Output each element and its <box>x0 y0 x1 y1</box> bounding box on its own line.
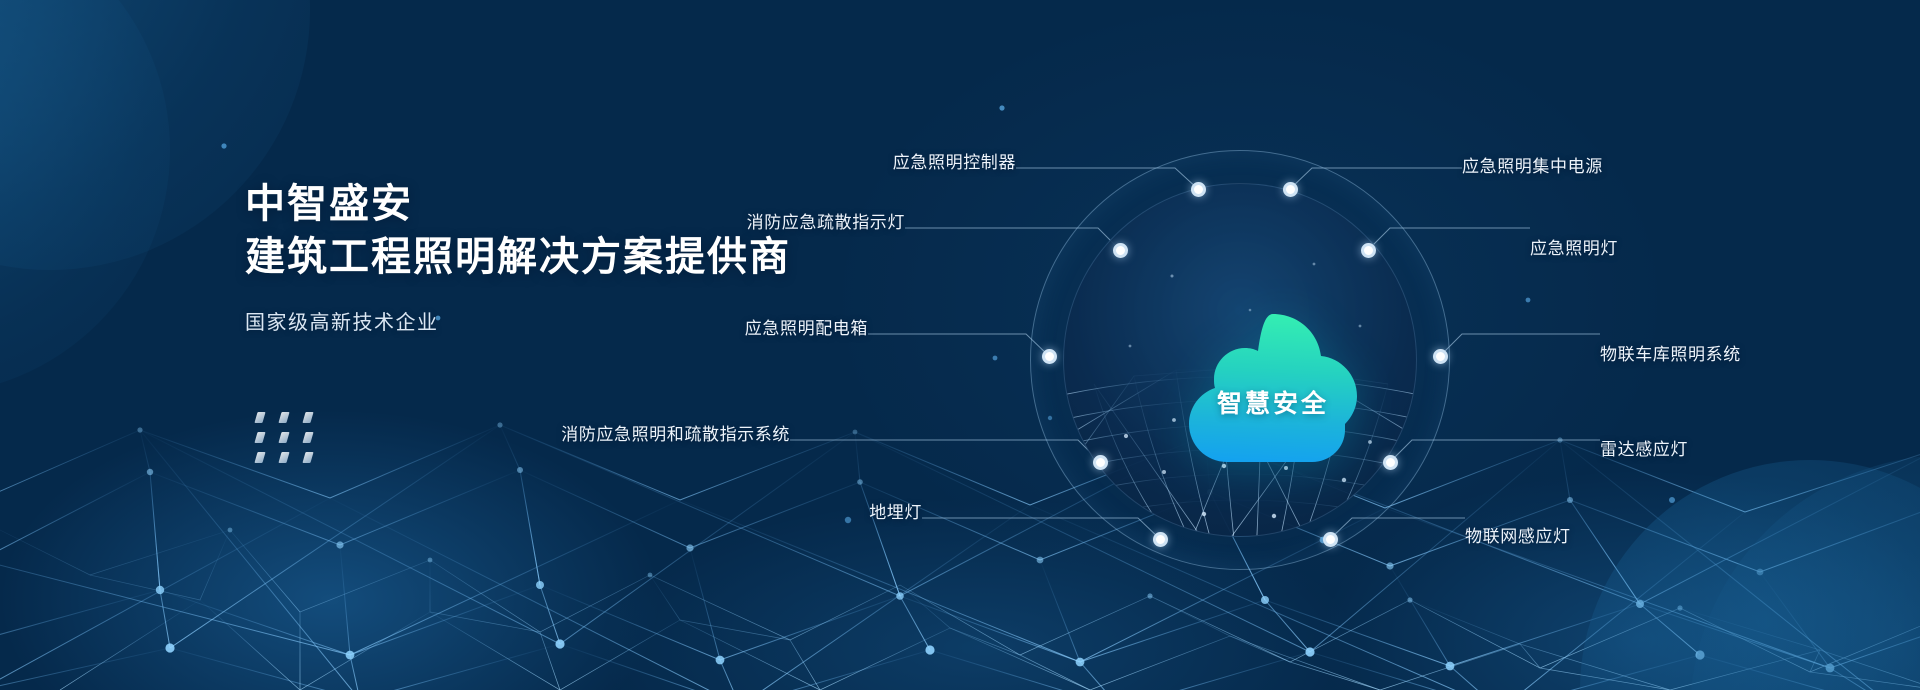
diagram-inner-disc: 智慧安全 <box>1063 183 1417 537</box>
decor-dot-grid <box>256 412 328 472</box>
node-dot-emergency-lighting-central-power[interactable] <box>1283 182 1298 197</box>
node-dot-fire-emergency-lighting-evacuation-sys[interactable] <box>1093 455 1108 470</box>
solution-diagram: 智慧安全 <box>1030 150 1450 570</box>
node-dot-iot-garage-lighting-system[interactable] <box>1433 349 1448 364</box>
label-emergency-lighting-central-power[interactable]: 应急照明集中电源 <box>1462 152 1603 177</box>
node-dot-iot-sensor-light[interactable] <box>1323 532 1338 547</box>
label-emergency-lighting-distribution-box[interactable]: 应急照明配电箱 <box>698 314 868 339</box>
label-emergency-lighting-controller[interactable]: 应急照明控制器 <box>816 148 1016 173</box>
label-fire-emergency-lighting-evacuation-sys[interactable]: 消防应急照明和疏散指示系统 <box>500 420 790 445</box>
node-dot-fire-emergency-evacuation-sign-light[interactable] <box>1113 243 1128 258</box>
cloud-icon: 智慧安全 <box>1169 306 1377 466</box>
label-radar-sensor-light[interactable]: 雷达感应灯 <box>1600 435 1688 460</box>
node-dot-radar-sensor-light[interactable] <box>1383 455 1398 470</box>
label-iot-garage-lighting-system[interactable]: 物联车库照明系统 <box>1600 340 1741 365</box>
label-emergency-lighting-lamp[interactable]: 应急照明灯 <box>1530 234 1618 259</box>
headline-block: 中智盛安 建筑工程照明解决方案提供商 国家级高新技术企业 <box>245 178 791 335</box>
label-fire-emergency-evacuation-sign-light[interactable]: 消防应急疏散指示灯 <box>705 208 905 233</box>
node-dot-buried-ground-light[interactable] <box>1153 532 1168 547</box>
label-buried-ground-light[interactable]: 地埋灯 <box>800 498 922 523</box>
label-iot-sensor-light[interactable]: 物联网感应灯 <box>1465 522 1571 547</box>
headline-line-2: 建筑工程照明解决方案提供商 <box>245 231 791 284</box>
cloud-center-label: 智慧安全 <box>1169 384 1377 420</box>
node-dot-emergency-lighting-controller[interactable] <box>1191 182 1206 197</box>
node-dot-emergency-lighting-lamp[interactable] <box>1361 243 1376 258</box>
node-dot-emergency-lighting-distribution-box[interactable] <box>1042 349 1057 364</box>
hero-banner: 中智盛安 建筑工程照明解决方案提供商 国家级高新技术企业 <box>0 0 1920 690</box>
